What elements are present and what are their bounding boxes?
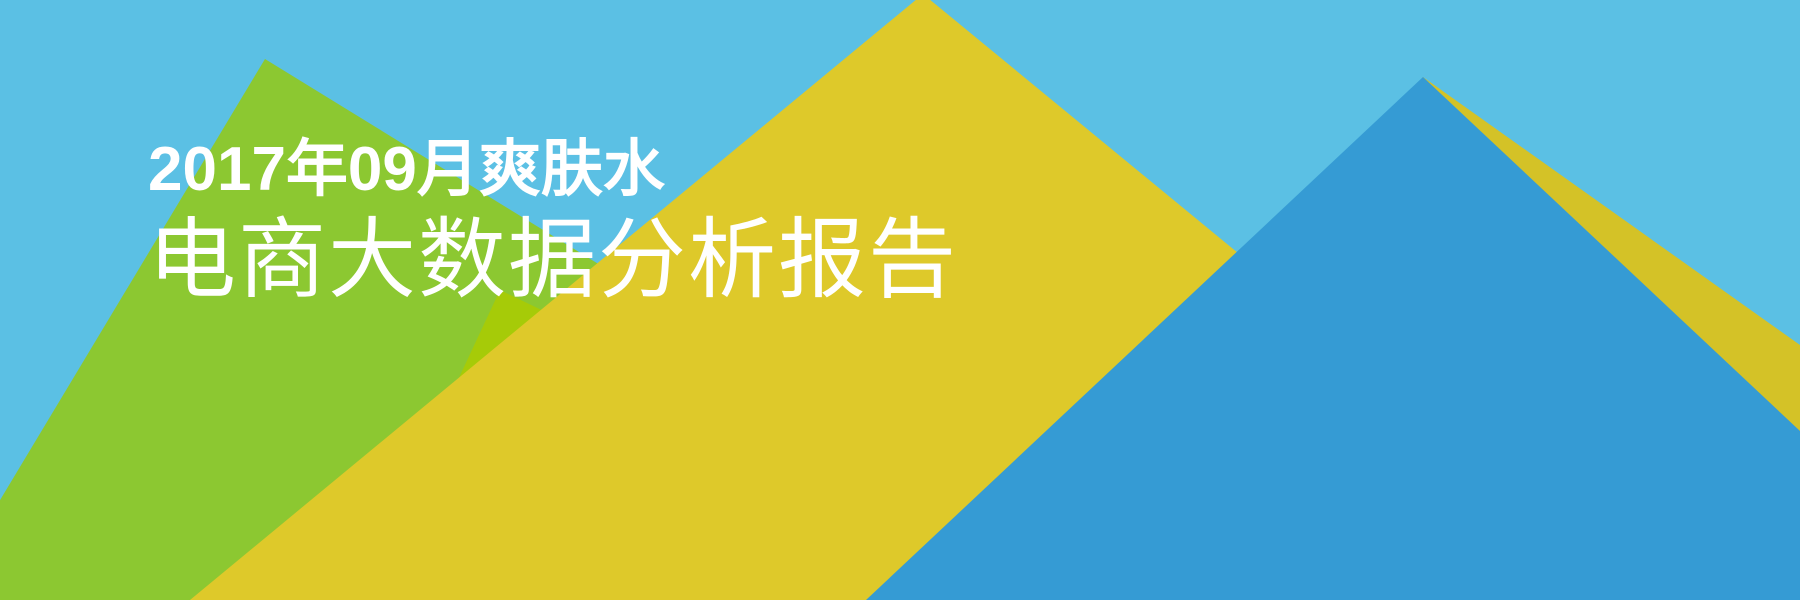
decorative-mountain-background bbox=[0, 0, 1800, 600]
report-cover-banner: 2017年09月爽肤水 电商大数据分析报告 bbox=[0, 0, 1800, 600]
